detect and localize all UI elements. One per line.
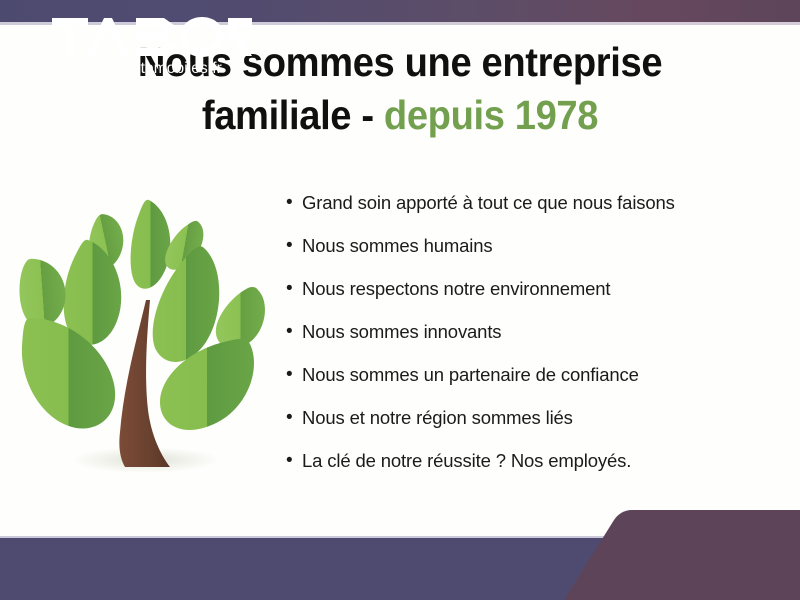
brand-wordmark (52, 16, 252, 58)
bullet-marker-icon: • (286, 448, 302, 474)
title-line-2: familiale - depuis 1978 (28, 89, 772, 142)
bullet-marker-icon: • (286, 276, 302, 302)
list-item: • Grand soin apporté à tout ce que nous … (286, 190, 766, 233)
bullet-marker-icon: • (286, 190, 302, 216)
list-item-label: Grand soin apporté à tout ce que nous fa… (302, 190, 675, 216)
list-item: • Nous sommes humains (286, 233, 766, 276)
list-item: • Nous respectons notre environnement (286, 276, 766, 319)
bullet-marker-icon: • (286, 362, 302, 388)
list-item-label: La clé de notre réussite ? Nos employés. (302, 448, 631, 474)
logo-letter-b (136, 18, 178, 56)
list-item-label: Nous respectons notre environnement (302, 276, 610, 302)
bullet-marker-icon: • (286, 319, 302, 345)
logo-letter-o (180, 17, 224, 57)
slide-canvas: Nous sommes une entreprise familiale - d… (0, 0, 800, 600)
brand-url[interactable]: tabor-automobiles.fr (52, 60, 252, 78)
list-item: • Nous et notre région sommes liés (286, 405, 766, 448)
leaf-top-center (131, 200, 171, 289)
logo-panel-shape (564, 510, 800, 600)
list-item: • Nous sommes innovants (286, 319, 766, 362)
bullet-marker-icon: • (286, 405, 302, 431)
title-line-2-plain: familiale - (202, 92, 384, 138)
bullet-list: • Grand soin apporté à tout ce que nous … (286, 190, 766, 491)
logo-letter-r (228, 18, 252, 56)
logo-letter-a (86, 18, 130, 56)
brand-logo-panel[interactable] (540, 502, 800, 600)
title-highlight: depuis 1978 (384, 92, 598, 138)
list-item-label: Nous et notre région sommes liés (302, 405, 573, 431)
list-item: • Nous sommes un partenaire de confiance (286, 362, 766, 405)
bullet-marker-icon: • (286, 233, 302, 259)
list-item-label: Nous sommes un partenaire de confiance (302, 362, 639, 388)
tree-illustration (18, 188, 272, 490)
list-item-label: Nous sommes humains (302, 233, 492, 259)
logo-letter-t (52, 18, 88, 56)
list-item-label: Nous sommes innovants (302, 319, 501, 345)
list-item: • La clé de notre réussite ? Nos employé… (286, 448, 766, 491)
leaf-far-left-upper (18, 257, 68, 328)
